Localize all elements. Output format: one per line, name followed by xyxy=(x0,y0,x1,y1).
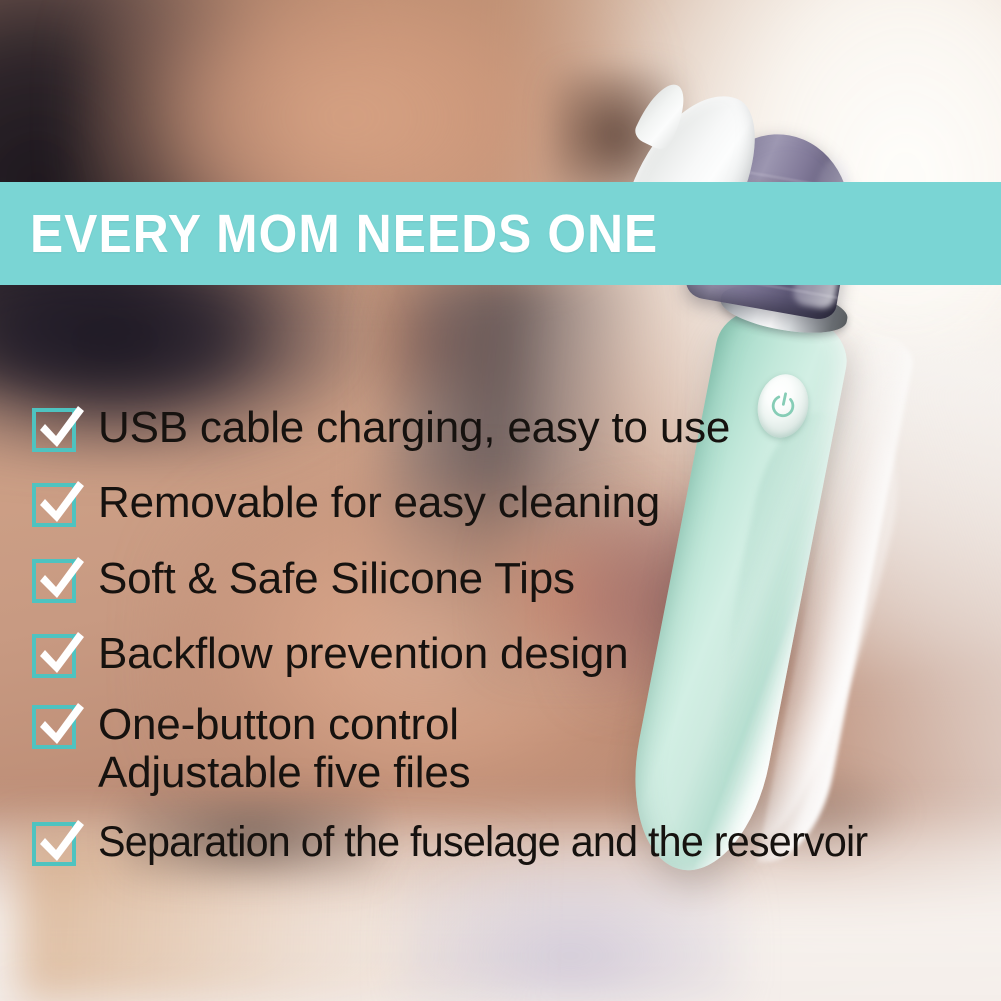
feature-item-removable-cleaning[interactable]: Removable for easy cleaning xyxy=(32,483,660,527)
feature-label: One-button control Adjustable five files xyxy=(98,701,470,797)
feature-item-separation[interactable]: Separation of the fuselage and the reser… xyxy=(32,822,899,866)
feature-label: Soft & Safe Silicone Tips xyxy=(98,555,575,603)
page-title: EVERY MOM NEEDS ONE xyxy=(30,207,658,261)
checkbox-checked-icon[interactable] xyxy=(32,822,76,866)
feature-label: USB cable charging, easy to use xyxy=(98,404,730,452)
checkbox-checked-icon[interactable] xyxy=(32,634,76,678)
feature-label: Removable for easy cleaning xyxy=(98,479,660,527)
checkbox-checked-icon[interactable] xyxy=(32,408,76,452)
background-bedding-lavender xyxy=(400,861,740,1001)
feature-item-backflow-prevention[interactable]: Backflow prevention design xyxy=(32,634,628,678)
checkbox-checked-icon[interactable] xyxy=(32,705,76,749)
checkbox-checked-icon[interactable] xyxy=(32,559,76,603)
feature-item-usb-charging[interactable]: USB cable charging, easy to use xyxy=(32,408,730,452)
power-icon xyxy=(767,389,799,424)
feature-label: Backflow prevention design xyxy=(98,630,628,678)
feature-label: Separation of the fuselage and the reser… xyxy=(98,818,867,866)
checkbox-checked-icon[interactable] xyxy=(32,483,76,527)
feature-item-silicone-tips[interactable]: Soft & Safe Silicone Tips xyxy=(32,559,575,603)
feature-item-one-button-control[interactable]: One-button control Adjustable five files xyxy=(32,705,470,797)
product-feature-poster: EVERY MOM NEEDS ONE USB cable charging, … xyxy=(0,0,1001,1001)
headline-banner: EVERY MOM NEEDS ONE xyxy=(0,182,1001,285)
